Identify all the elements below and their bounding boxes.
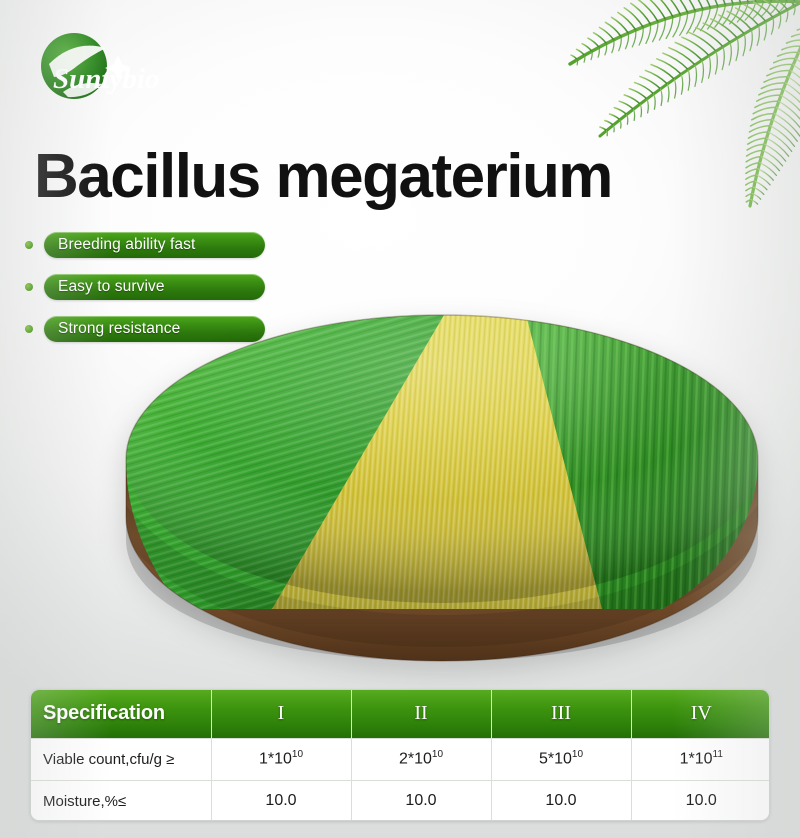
palm-leaflet (791, 71, 800, 96)
bullet-dot-icon (25, 241, 33, 249)
palm-leaflet (789, 2, 795, 10)
palm-leaflet (653, 22, 658, 42)
palm-leaflet (781, 95, 800, 120)
cell-base: 1*10 (259, 751, 292, 768)
cell-viable-count-1: 1*1010 (211, 738, 351, 780)
palm-leaflet (591, 51, 592, 59)
palm-leaflet (746, 157, 761, 162)
palm-leaflet (746, 187, 754, 190)
bullet-dot-icon (25, 325, 33, 333)
palm-leaflet (763, 0, 780, 14)
cell-exponent: 10 (572, 749, 583, 760)
palm-leaflet (673, 15, 680, 37)
palm-leaflet (774, 114, 800, 137)
palm-leaflet (751, 200, 757, 204)
palm-leaflet (749, 126, 770, 132)
palm-leaflet (577, 60, 578, 65)
palm-leaflet (620, 120, 621, 128)
palm-leaflet (742, 0, 756, 2)
palm-leaflet (631, 3, 651, 24)
palm-leaflet (695, 65, 697, 87)
palm-leaflet (708, 6, 718, 29)
palm-leaflet (746, 194, 752, 197)
palm-leaflet (730, 3, 741, 24)
palm-leaflet (722, 4, 733, 26)
palm-leaflet (743, 34, 745, 56)
palm-leaflet (571, 55, 577, 60)
palm-leaflet (666, 17, 673, 39)
palm-leaflet (746, 169, 758, 174)
palm-leaflet (682, 0, 703, 9)
palm-leaflet (577, 49, 585, 55)
palm-leaflet (757, 95, 781, 101)
palm-leaflet (633, 109, 634, 120)
palm-leaflet (746, 163, 760, 168)
cell-exponent: 10 (432, 749, 443, 760)
palm-leaflet (757, 26, 759, 46)
cell-exponent: 10 (292, 749, 303, 760)
palm-leaflet (764, 21, 766, 40)
row-label-viable-count: Viable count,cfu/g ≥ (31, 738, 211, 780)
palm-leaflet (582, 44, 592, 52)
palm-leaflet (748, 138, 767, 144)
palm-leaflet (696, 28, 723, 47)
palm-leaflet (792, 34, 800, 37)
palm-leaflet (746, 181, 755, 185)
palm-leaflet (780, 0, 787, 1)
palm-leaflet (771, 17, 773, 34)
palm-leaflet (715, 0, 733, 4)
cell-moisture-1: 10.0 (211, 780, 351, 821)
palm-leaflet (760, 163, 777, 176)
palm-leaflet (715, 5, 726, 27)
palm-leaflet (774, 0, 788, 10)
palm-leaflet (707, 0, 726, 5)
palm-leaflet (757, 175, 771, 185)
palm-leaflet (754, 2, 773, 17)
palm-leaflet (786, 83, 800, 108)
col-header-1: I (211, 690, 351, 738)
palm-leaflet (779, 101, 800, 125)
table-row: Viable count,cfu/g ≥ 1*1010 2*1010 5*101… (31, 738, 770, 780)
cell-viable-count-4: 1*1011 (631, 738, 770, 780)
page-title: Bacillus megaterium (34, 146, 612, 208)
palm-leaflet (719, 15, 745, 34)
product-banner-page: Suntybio Bacillus megaterium Breeding ab… (0, 0, 800, 838)
palm-leaflet (770, 1, 779, 14)
palm-leaflet (600, 127, 607, 131)
palm-leaflet (777, 107, 800, 131)
palm-leaflet (774, 58, 796, 62)
palm-leaflet (632, 30, 636, 47)
palm-leaflet (654, 94, 655, 109)
palm-leaflet (618, 12, 636, 30)
palm-leaflet (733, 0, 748, 2)
palm-leaflet (761, 83, 785, 89)
palm-leaflet (736, 38, 738, 61)
palm-leaflet (619, 36, 622, 50)
palm-leaflet (767, 71, 791, 76)
logo-wordmark: Suntybio (53, 63, 159, 95)
cell-moisture-3: 10.0 (491, 780, 631, 821)
col-header-specification: Specification (31, 690, 211, 738)
palm-leaflet (770, 0, 779, 1)
palm-leaflet (605, 22, 621, 36)
feature-label-0: Breeding ability fast (58, 236, 195, 254)
palm-leaflet (758, 169, 773, 180)
col-header-4: IV (631, 690, 770, 738)
palm-leaflet (785, 0, 795, 6)
palm-leaflet (669, 48, 695, 65)
palm-leaflet (607, 131, 608, 136)
palm-leaflet (753, 107, 776, 113)
palm-leaflet (667, 84, 669, 102)
palm-leaflet (788, 77, 800, 102)
palm-leaflet (605, 121, 614, 126)
palm-leaflet (687, 11, 696, 34)
palm-leaflet (639, 27, 643, 45)
palm-leaflet (651, 65, 674, 80)
palm-leaflet (770, 64, 793, 69)
palm-leaflet (647, 99, 648, 113)
palm-leaflet (635, 83, 654, 94)
specification-table: Specification I II III IV Viable count,c… (30, 689, 770, 821)
palm-leaflet (638, 0, 658, 22)
palm-leaflet (674, 79, 676, 98)
palm-leaflet (624, 8, 643, 27)
palm-leaflet (764, 77, 788, 82)
palm-rachis (750, 16, 800, 206)
palm-leaflet (645, 70, 667, 84)
palm-leaflet (752, 194, 760, 200)
palm-leaflet (765, 144, 786, 161)
palm-leaflet (694, 9, 703, 32)
palm-leaflet (681, 74, 683, 94)
palm-leaflet (610, 114, 621, 120)
palm-leaflet (675, 42, 702, 60)
palm-leaflet (605, 43, 607, 55)
palm-leaflet (752, 114, 775, 120)
palm-leaflet (782, 46, 800, 50)
palm-leaflet (663, 53, 688, 69)
palm-leaflet (727, 11, 751, 29)
palm-leaflet (666, 0, 687, 13)
feature-label-1: Easy to survive (58, 278, 165, 296)
feature-pill-0[interactable]: Breeding ability fast (44, 232, 265, 258)
palm-leaflet (796, 59, 800, 83)
palm-leaflet (746, 175, 757, 179)
palm-leaflet (688, 70, 690, 91)
feature-item-0[interactable]: Breeding ability fast (25, 232, 265, 258)
feature-item-1[interactable]: Easy to survive (25, 274, 265, 300)
palm-leaflet (689, 32, 716, 51)
palm-leaflet (793, 65, 800, 89)
col-header-3: III (491, 690, 631, 738)
brand-logo[interactable]: Suntybio (22, 30, 172, 108)
palm-leaflet (761, 0, 772, 1)
palm-leaflet (737, 2, 748, 22)
palm-leaflet (778, 52, 799, 56)
palm-leaflet (661, 89, 663, 106)
cell-base: 2*10 (399, 751, 432, 768)
palm-leaflet (701, 8, 711, 31)
palm-leaflet (794, 6, 795, 15)
palm-leaflet (711, 19, 737, 38)
palm-leaflet (751, 0, 763, 1)
palm-leaflet (751, 120, 773, 126)
palm-leaflet (594, 33, 607, 44)
bullet-dot-icon (25, 283, 33, 291)
palm-leaflet (786, 10, 788, 22)
palm-leaflet (690, 0, 710, 8)
palm-leaflet (614, 108, 626, 115)
palm-leaflet (709, 56, 711, 79)
cell-viable-count-3: 5*1010 (491, 738, 631, 780)
palm-leaflet (729, 42, 731, 65)
palm-leaflet (584, 55, 585, 62)
palm-leaflet (715, 51, 717, 74)
palm-leaflet (747, 144, 765, 150)
palm-leaflet (790, 0, 795, 2)
cell-moisture-2: 10.0 (351, 780, 491, 821)
crop-field-illustration (122, 309, 762, 671)
palm-leaflet (588, 38, 599, 47)
palm-leaflet (754, 187, 764, 194)
palm-leaflet (755, 181, 767, 189)
palm-leaflet (783, 89, 800, 114)
palm-leaflet (598, 47, 599, 57)
palm-leaflet (626, 33, 629, 49)
palm-leaflet (749, 132, 769, 138)
feature-pill-1[interactable]: Easy to survive (44, 274, 265, 300)
table-row: Moisture,%≤ 10.0 10.0 10.0 10.0 (31, 780, 770, 821)
palm-leaflet (619, 101, 633, 109)
palm-leaflet (640, 76, 661, 88)
col-header-2: II (351, 690, 491, 738)
palm-leaflet (761, 157, 779, 171)
palm-leaflet (703, 23, 730, 42)
palm-leaflet (745, 2, 756, 20)
palm-leaflet (722, 47, 724, 70)
palm-leaflet (627, 114, 628, 124)
palm-leaflet (736, 8, 759, 26)
palm-leaflet (657, 59, 681, 74)
cell-base: 1*10 (680, 751, 713, 768)
palm-leaflet (770, 126, 794, 147)
palm-leaflet (779, 14, 781, 29)
palm-rachis (570, 1, 800, 64)
palm-leaflet (746, 200, 751, 202)
palm-leaflet (659, 0, 680, 15)
palm-leaflet (724, 0, 741, 3)
palm-leaflet (787, 40, 800, 43)
palm-leaflet (767, 138, 789, 156)
palm-leaflet (702, 60, 704, 82)
palm-leaflet (753, 1, 763, 18)
palm-leaflet (674, 0, 695, 11)
palm-leaflet (747, 150, 763, 156)
palm-leaflet (659, 19, 665, 40)
palm-leaflet (652, 0, 673, 17)
palm-leaflet (755, 101, 779, 107)
palm-leaflet (645, 0, 666, 19)
palm-leaflet (779, 1, 786, 11)
palm-leaflet (612, 40, 614, 53)
palm-leaflet (698, 0, 718, 6)
palm-leaflet (772, 120, 797, 142)
cell-viable-count-2: 2*1010 (351, 738, 491, 780)
cell-exponent: 11 (713, 749, 723, 760)
palm-leaflet (680, 13, 688, 36)
palm-leaflet (640, 104, 641, 117)
palm-leaflet (763, 150, 783, 166)
palm-leaflet (750, 30, 752, 51)
palm-rachis (600, 2, 800, 136)
cell-base: 5*10 (539, 751, 572, 768)
palm-leaflet (599, 27, 613, 39)
table-header-row: Specification I II III IV (31, 690, 770, 738)
palm-leaflet (682, 37, 709, 55)
palm-leaflet (624, 95, 640, 104)
palm-leaflet (768, 132, 791, 151)
palm-leaflet (612, 17, 629, 33)
palm-leaflet (759, 89, 783, 95)
palm-leaflet (744, 5, 765, 22)
row-label-moisture: Moisture,%≤ (31, 780, 211, 821)
palm-leaflet (646, 24, 651, 43)
palm-leaflet (629, 89, 647, 99)
palm-leaflet (762, 1, 772, 16)
cell-moisture-4: 10.0 (631, 780, 770, 821)
palm-leaflet (613, 125, 614, 132)
